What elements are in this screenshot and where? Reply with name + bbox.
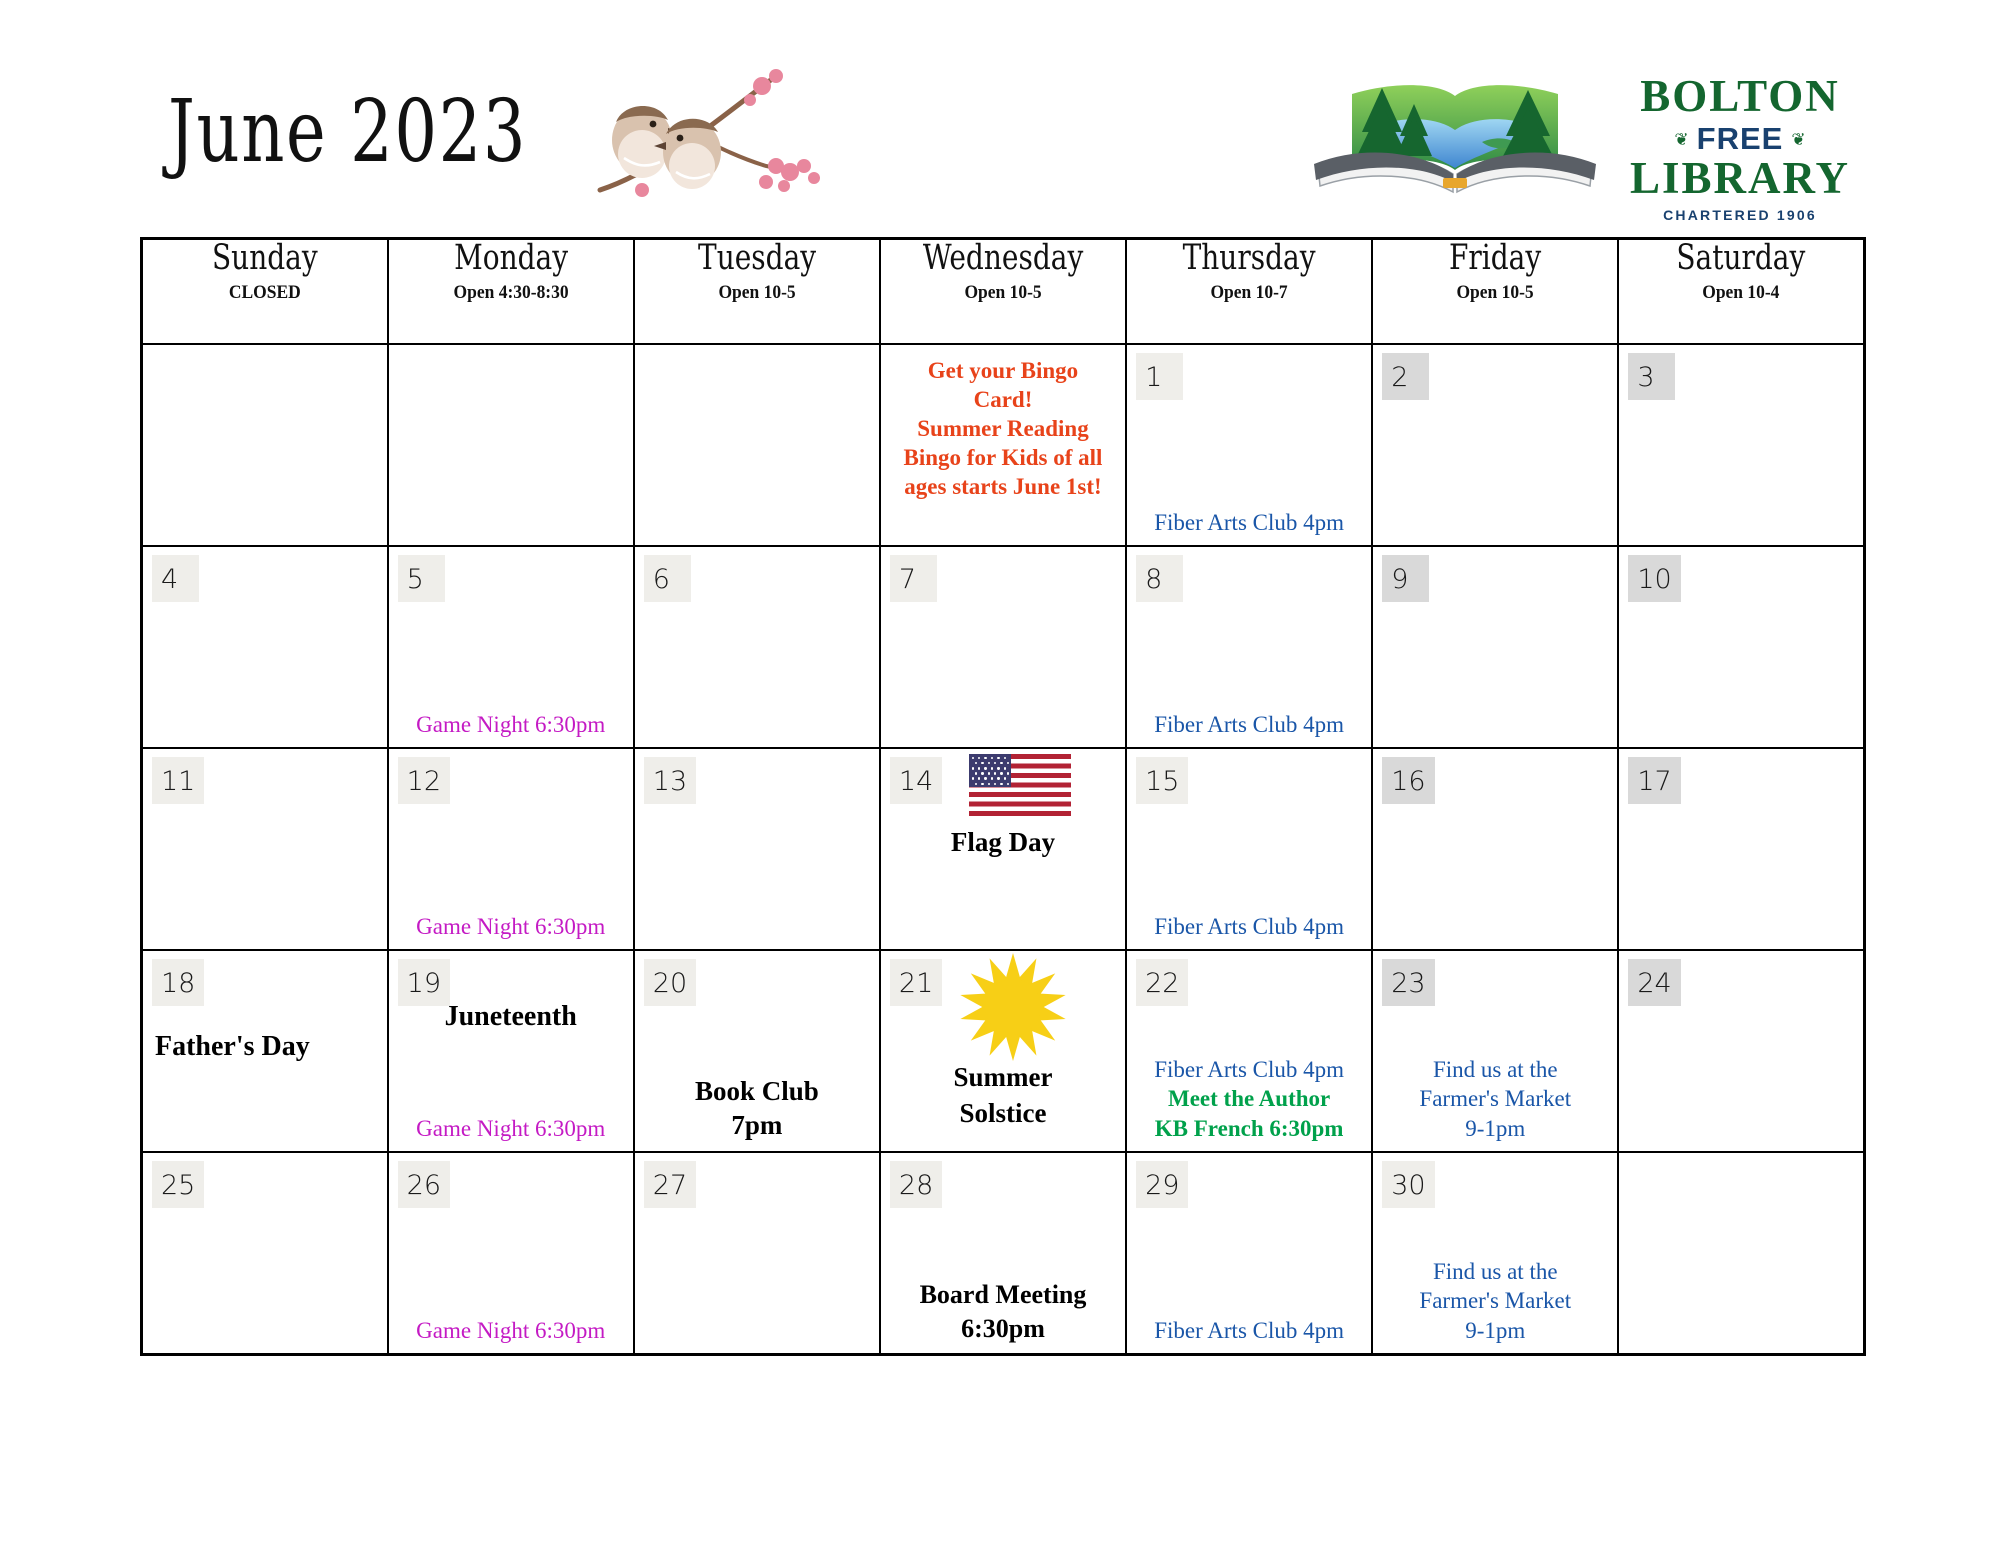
holiday-label: Flag Day [887, 827, 1119, 858]
day-name: Friday [1398, 240, 1593, 277]
day-cell-16[interactable]: 16 [1372, 748, 1618, 950]
day-cell-13[interactable]: 13 [634, 748, 880, 950]
date-number: 25 [152, 1161, 204, 1208]
event-item[interactable]: Find us at the [1379, 1055, 1611, 1084]
day-cell-10[interactable]: 10 [1618, 546, 1864, 748]
event-list: Fiber Arts Club 4pmMeet the AuthorKB Fre… [1133, 1055, 1365, 1143]
bingo-line: Card! [891, 386, 1115, 415]
day-cell-27[interactable]: 27 [634, 1152, 880, 1355]
day-name: Monday [413, 240, 608, 277]
day-name: Saturday [1644, 240, 1839, 277]
day-hours: Open 10-4 [1629, 282, 1853, 304]
column-header-sunday: SundayCLOSED [142, 239, 388, 345]
library-logo: BOLTON ❦ FREE ❦ LIBRARY CHARTERED 1906 [1300, 60, 1870, 210]
calendar-page: June 2023 [0, 0, 2000, 1545]
date-number: 24 [1628, 959, 1680, 1006]
logo-tagline: CHARTERED 1906 [1615, 207, 1865, 223]
event-item[interactable]: 7pm [641, 1108, 873, 1143]
day-cell-22[interactable]: 22Fiber Arts Club 4pmMeet the AuthorKB F… [1126, 950, 1372, 1152]
holiday-label: SummerSolstice [887, 1059, 1119, 1132]
bingo-line: ages starts June 1st! [891, 473, 1115, 502]
holiday-line: Summer [887, 1059, 1119, 1095]
column-header-friday: FridayOpen 10-5 [1372, 239, 1618, 345]
date-number: 19 [398, 959, 450, 1006]
date-number: 27 [644, 1161, 696, 1208]
event-item[interactable]: Game Night 6:30pm [395, 912, 627, 941]
day-hours: Open 4:30-8:30 [398, 282, 623, 304]
date-number: 10 [1628, 555, 1680, 602]
column-header-monday: MondayOpen 4:30-8:30 [388, 239, 634, 345]
calendar-week-row: 2526Game Night 6:30pm2728Board Meeting6:… [142, 1152, 1865, 1355]
event-list: Game Night 6:30pm [395, 1114, 627, 1143]
event-item[interactable]: 9-1pm [1379, 1114, 1611, 1143]
day-cell-7[interactable]: 7 [880, 546, 1126, 748]
date-number: 30 [1382, 1161, 1434, 1208]
date-number: 28 [890, 1161, 942, 1208]
column-header-saturday: SaturdayOpen 10-4 [1618, 239, 1864, 345]
date-number: 20 [644, 959, 696, 1006]
event-list: Fiber Arts Club 4pm [1133, 710, 1365, 739]
day-cell-9[interactable]: 9 [1372, 546, 1618, 748]
day-cell-19[interactable]: 19JuneteenthGame Night 6:30pm [388, 950, 634, 1152]
event-item[interactable]: Fiber Arts Club 4pm [1133, 508, 1365, 537]
page-header: June 2023 [0, 0, 2000, 235]
day-cell-11[interactable]: 11 [142, 748, 388, 950]
day-cell-4[interactable]: 4 [142, 546, 388, 748]
day-cell-20[interactable]: 20Book Club7pm [634, 950, 880, 1152]
event-item[interactable]: KB French 6:30pm [1133, 1114, 1365, 1143]
event-list: Game Night 6:30pm [395, 912, 627, 941]
event-item[interactable]: Game Night 6:30pm [395, 710, 627, 739]
sun-icon [959, 953, 1067, 1061]
day-name: Thursday [1151, 240, 1346, 277]
page-title: June 2023 [168, 82, 527, 182]
calendar-week-row: 18Father's Day19JuneteenthGame Night 6:3… [142, 950, 1865, 1152]
calendar-week-row: 45Game Night 6:30pm678Fiber Arts Club 4p… [142, 546, 1865, 748]
holiday-label: Juneteenth [395, 1001, 627, 1033]
day-cell-8[interactable]: 8Fiber Arts Club 4pm [1126, 546, 1372, 748]
day-cell-28[interactable]: 28Board Meeting6:30pm [880, 1152, 1126, 1355]
event-item[interactable]: Book Club [641, 1074, 873, 1109]
day-cell-2[interactable]: 2 [1372, 344, 1618, 546]
date-number: 17 [1628, 757, 1680, 804]
day-cell-empty[interactable] [388, 344, 634, 546]
bingo-line: Summer Reading [891, 415, 1115, 444]
date-number: 3 [1628, 353, 1675, 400]
date-number: 4 [152, 555, 199, 602]
day-hours: Open 10-5 [645, 282, 870, 304]
event-item[interactable]: 9-1pm [1379, 1316, 1611, 1345]
logo-line-bolton: BOLTON [1615, 74, 1865, 119]
date-number: 1 [1136, 353, 1183, 400]
frond-left-icon: ❦ [1674, 131, 1688, 148]
event-item[interactable]: Farmer's Market [1379, 1084, 1611, 1113]
date-number: 29 [1136, 1161, 1188, 1208]
day-cell-30[interactable]: 30Find us at theFarmer's Market9-1pm [1372, 1152, 1618, 1355]
date-number: 14 [890, 757, 942, 804]
event-list: Find us at theFarmer's Market9-1pm [1379, 1055, 1611, 1143]
logo-line-library: LIBRARY [1615, 155, 1865, 202]
event-item[interactable]: Meet the Author [1133, 1084, 1365, 1113]
day-cell-17[interactable]: 17 [1618, 748, 1864, 950]
date-number: 18 [152, 959, 204, 1006]
day-name: Sunday [167, 240, 362, 277]
event-item[interactable]: Fiber Arts Club 4pm [1133, 1055, 1365, 1084]
date-number: 26 [398, 1161, 450, 1208]
event-item[interactable]: Fiber Arts Club 4pm [1133, 1316, 1365, 1345]
date-number: 2 [1382, 353, 1429, 400]
day-hours: CLOSED [153, 282, 377, 304]
day-cell-25[interactable]: 25 [142, 1152, 388, 1355]
column-header-thursday: ThursdayOpen 10-7 [1126, 239, 1372, 345]
date-number: 6 [644, 555, 691, 602]
date-number: 5 [398, 555, 445, 602]
event-item[interactable]: Find us at the [1379, 1257, 1611, 1286]
date-number: 15 [1136, 757, 1188, 804]
event-item[interactable]: Board Meeting [887, 1278, 1119, 1311]
birds-on-branch-icon [580, 62, 830, 202]
day-cell-15[interactable]: 15Fiber Arts Club 4pm [1126, 748, 1372, 950]
day-cell-18[interactable]: 18Father's Day [142, 950, 388, 1152]
event-list: Game Night 6:30pm [395, 710, 627, 739]
logo-wordmark: BOLTON ❦ FREE ❦ LIBRARY CHARTERED 1906 [1615, 74, 1865, 223]
day-hours: Open 10-5 [1383, 282, 1608, 304]
event-list: Board Meeting6:30pm [887, 1278, 1119, 1345]
day-cell-23[interactable]: 23Find us at theFarmer's Market9-1pm [1372, 950, 1618, 1152]
day-cell-14[interactable]: 14Flag Day [880, 748, 1126, 950]
day-cell-26[interactable]: 26Game Night 6:30pm [388, 1152, 634, 1355]
day-cell-6[interactable]: 6 [634, 546, 880, 748]
bingo-line: Get your Bingo [891, 357, 1115, 386]
event-item[interactable]: Game Night 6:30pm [395, 1114, 627, 1143]
event-item[interactable]: Fiber Arts Club 4pm [1133, 710, 1365, 739]
day-cell-1[interactable]: 1Fiber Arts Club 4pm [1126, 344, 1372, 546]
event-item[interactable]: Fiber Arts Club 4pm [1133, 912, 1365, 941]
event-item[interactable]: 6:30pm [887, 1312, 1119, 1345]
event-list: Game Night 6:30pm [395, 1316, 627, 1345]
event-list: Fiber Arts Club 4pm [1133, 1316, 1365, 1345]
day-cell-24[interactable]: 24 [1618, 950, 1864, 1152]
event-item[interactable]: Game Night 6:30pm [395, 1316, 627, 1345]
day-cell-12[interactable]: 12Game Night 6:30pm [388, 748, 634, 950]
date-number: 16 [1382, 757, 1434, 804]
bingo-line: Bingo for Kids of all [891, 444, 1115, 473]
day-cell-empty[interactable]: Get your BingoCard!Summer ReadingBingo f… [880, 344, 1126, 546]
day-cell-empty[interactable] [142, 344, 388, 546]
day-cell-3[interactable]: 3 [1618, 344, 1864, 546]
day-cell-29[interactable]: 29Fiber Arts Club 4pm [1126, 1152, 1372, 1355]
day-hours: Open 10-7 [1137, 282, 1362, 304]
date-number: 13 [644, 757, 696, 804]
holiday-line: Solstice [887, 1095, 1119, 1131]
calendar-header-row: SundayCLOSEDMondayOpen 4:30-8:30TuesdayO… [142, 239, 1865, 345]
logo-line-free: FREE [1697, 121, 1784, 157]
date-number: 8 [1136, 555, 1183, 602]
date-number: 11 [152, 757, 204, 804]
day-name: Wednesday [905, 240, 1100, 277]
event-list: Find us at theFarmer's Market9-1pm [1379, 1257, 1611, 1345]
column-header-tuesday: TuesdayOpen 10-5 [634, 239, 880, 345]
day-cell-5[interactable]: 5Game Night 6:30pm [388, 546, 634, 748]
calendar-week-row: Get your BingoCard!Summer ReadingBingo f… [142, 344, 1865, 546]
day-cell-empty[interactable] [634, 344, 880, 546]
event-list: Fiber Arts Club 4pm [1133, 508, 1365, 537]
open-book-landscape-icon [1310, 70, 1600, 200]
date-number: 12 [398, 757, 450, 804]
date-number: 23 [1382, 959, 1434, 1006]
event-item[interactable]: Farmer's Market [1379, 1286, 1611, 1315]
calendar-week-row: 1112Game Night 6:30pm1314Flag Day15Fiber… [142, 748, 1865, 950]
day-cell-21[interactable]: 21SummerSolstice [880, 950, 1126, 1152]
bingo-announcement: Get your BingoCard!Summer ReadingBingo f… [891, 357, 1115, 502]
event-list: Fiber Arts Club 4pm [1133, 912, 1365, 941]
holiday-label: Father's Day [149, 1031, 381, 1063]
date-number: 21 [890, 959, 942, 1006]
column-header-wednesday: WednesdayOpen 10-5 [880, 239, 1126, 345]
event-list: Book Club7pm [641, 1074, 873, 1143]
date-number: 22 [1136, 959, 1188, 1006]
calendar-grid: SundayCLOSEDMondayOpen 4:30-8:30TuesdayO… [140, 237, 1866, 1356]
date-number: 7 [890, 555, 937, 602]
day-name: Tuesday [659, 240, 854, 277]
day-hours: Open 10-5 [891, 282, 1116, 304]
us-flag-icon [969, 754, 1071, 816]
day-cell-empty[interactable] [1618, 1152, 1864, 1355]
date-number: 9 [1382, 555, 1429, 602]
frond-right-icon: ❦ [1791, 131, 1805, 148]
